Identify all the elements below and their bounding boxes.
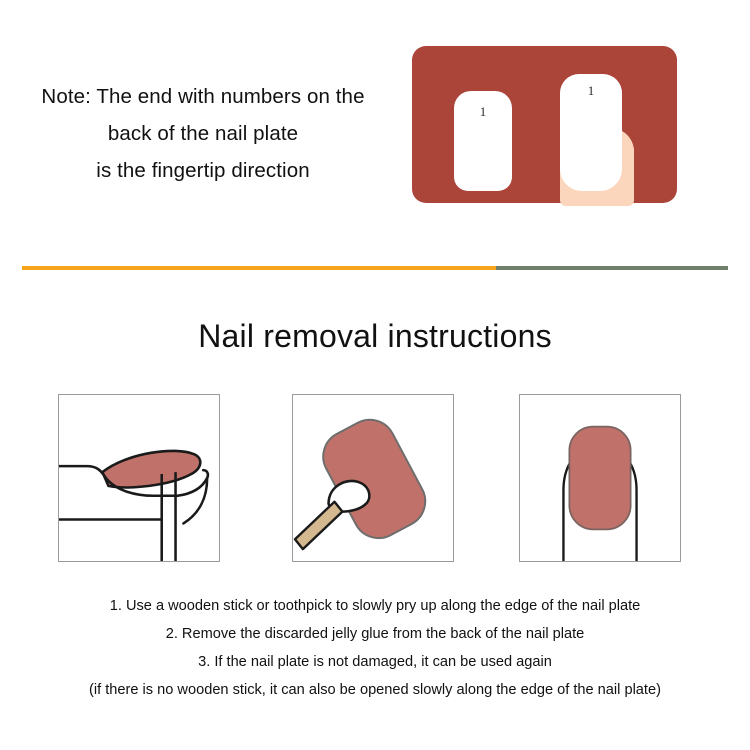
note-section: Note: The end with numbers on the back o… [0,0,750,250]
nail-plate-illustration: 1 1 [412,46,690,221]
note-line-3: is the fingertip direction [8,152,398,189]
step-item: 3. If the nail plate is not damaged, it … [0,648,750,676]
nail-sticker-right: 1 [560,74,622,191]
section-divider [22,266,728,270]
steps-list: 1. Use a wooden stick or toothpick to sl… [0,592,750,704]
nail-number-right: 1 [560,84,622,97]
instruction-sheet: Note: The end with numbers on the back o… [0,0,750,750]
step-item: 2. Remove the discarded jelly glue from … [0,620,750,648]
finger-with-nail-plate-icon [520,395,680,561]
illustration-box-1 [58,394,220,562]
wooden-stick-under-nail-icon [293,395,453,561]
nail-sticker-left: 1 [454,91,512,191]
page-title: Nail removal instructions [0,318,750,355]
note-text: Note: The end with numbers on the back o… [8,78,398,189]
step-item: 1. Use a wooden stick or toothpick to sl… [0,592,750,620]
nail-plate-card: 1 1 [412,46,677,203]
nail-number-left: 1 [454,105,512,118]
note-line-2: back of the nail plate [8,115,398,152]
illustration-box-2 [292,394,454,562]
divider-segment-green [496,266,728,270]
illustration-box-3 [519,394,681,562]
pry-up-nail-side-view-icon [59,395,219,561]
illustration-row [0,394,750,564]
step-note: (if there is no wooden stick, it can als… [0,676,750,704]
divider-segment-orange [22,266,496,270]
note-line-1: Note: The end with numbers on the [8,78,398,115]
